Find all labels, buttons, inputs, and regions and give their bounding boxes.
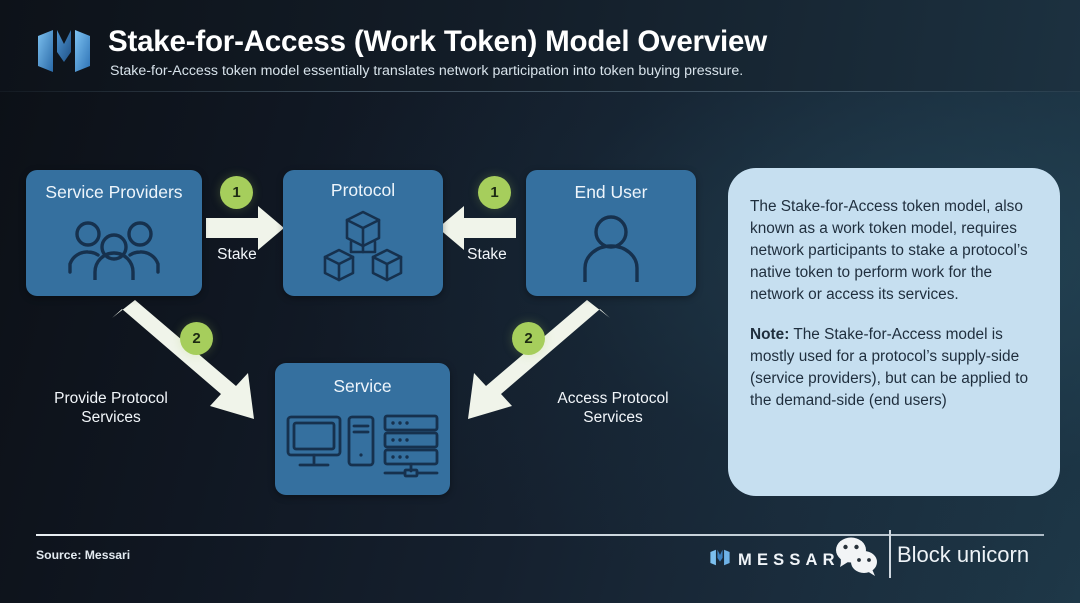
- slide-canvas: Stake-for-Access (Work Token) Model Over…: [0, 0, 1080, 603]
- header-divider: [0, 91, 1080, 92]
- page-title: Stake-for-Access (Work Token) Model Over…: [108, 25, 767, 59]
- diagram-node-service-providers[interactable]: Service Providers: [26, 170, 202, 296]
- footer-divider: [36, 534, 1044, 536]
- node-label-protocol: Protocol: [283, 180, 443, 201]
- diagram-node-protocol[interactable]: Protocol: [283, 170, 443, 296]
- blockchain-cubes-icon: [283, 208, 443, 288]
- devices-server-icon: [275, 409, 450, 483]
- info-panel: The Stake-for-Access token model, also k…: [728, 168, 1060, 496]
- arrow-label-stake-enduser: Stake: [453, 246, 521, 265]
- node-label-end-user: End User: [526, 182, 696, 203]
- step-badge-2-access: 2: [512, 322, 545, 355]
- header-bar: Stake-for-Access (Work Token) Model Over…: [0, 0, 1080, 92]
- page-subtitle: Stake-for-Access token model essentially…: [110, 63, 743, 79]
- wechat-icon: [832, 535, 880, 579]
- diagram-node-end-user[interactable]: End User: [526, 170, 696, 296]
- info-panel-paragraph-2: Note: The Stake-for-Access model is most…: [750, 324, 1034, 412]
- arrow-label-stake-providers: Stake: [203, 246, 271, 265]
- messari-brand-wordmark: MESSARI: [709, 549, 850, 571]
- info-panel-note-body: The Stake-for-Access model is mostly use…: [750, 326, 1028, 409]
- diagram-node-service[interactable]: Service: [275, 363, 450, 495]
- watermark-text: Block unicorn: [897, 542, 1029, 568]
- arrow-providers-to-protocol: [206, 206, 284, 250]
- person-icon: [526, 212, 696, 284]
- messari-m-logo-icon-footer: [709, 549, 731, 571]
- info-panel-paragraph-1: The Stake-for-Access token model, also k…: [750, 196, 1034, 305]
- step-badge-1-providers: 1: [220, 176, 253, 209]
- step-badge-1-enduser: 1: [478, 176, 511, 209]
- step-badge-2-provide: 2: [180, 322, 213, 355]
- messari-m-logo-icon: [36, 28, 92, 74]
- arrow-label-provide-protocol-services: Provide Protocol Services: [18, 390, 204, 428]
- node-label-service-providers: Service Providers: [26, 182, 202, 203]
- node-label-service: Service: [275, 376, 450, 397]
- source-label: Source: Messari: [36, 548, 130, 562]
- watermark-divider: [889, 530, 891, 578]
- arrow-enduser-to-protocol: [438, 206, 516, 250]
- people-group-icon: [26, 214, 202, 284]
- arrow-label-access-protocol-services: Access Protocol Services: [520, 390, 706, 428]
- info-panel-note-label: Note:: [750, 326, 789, 343]
